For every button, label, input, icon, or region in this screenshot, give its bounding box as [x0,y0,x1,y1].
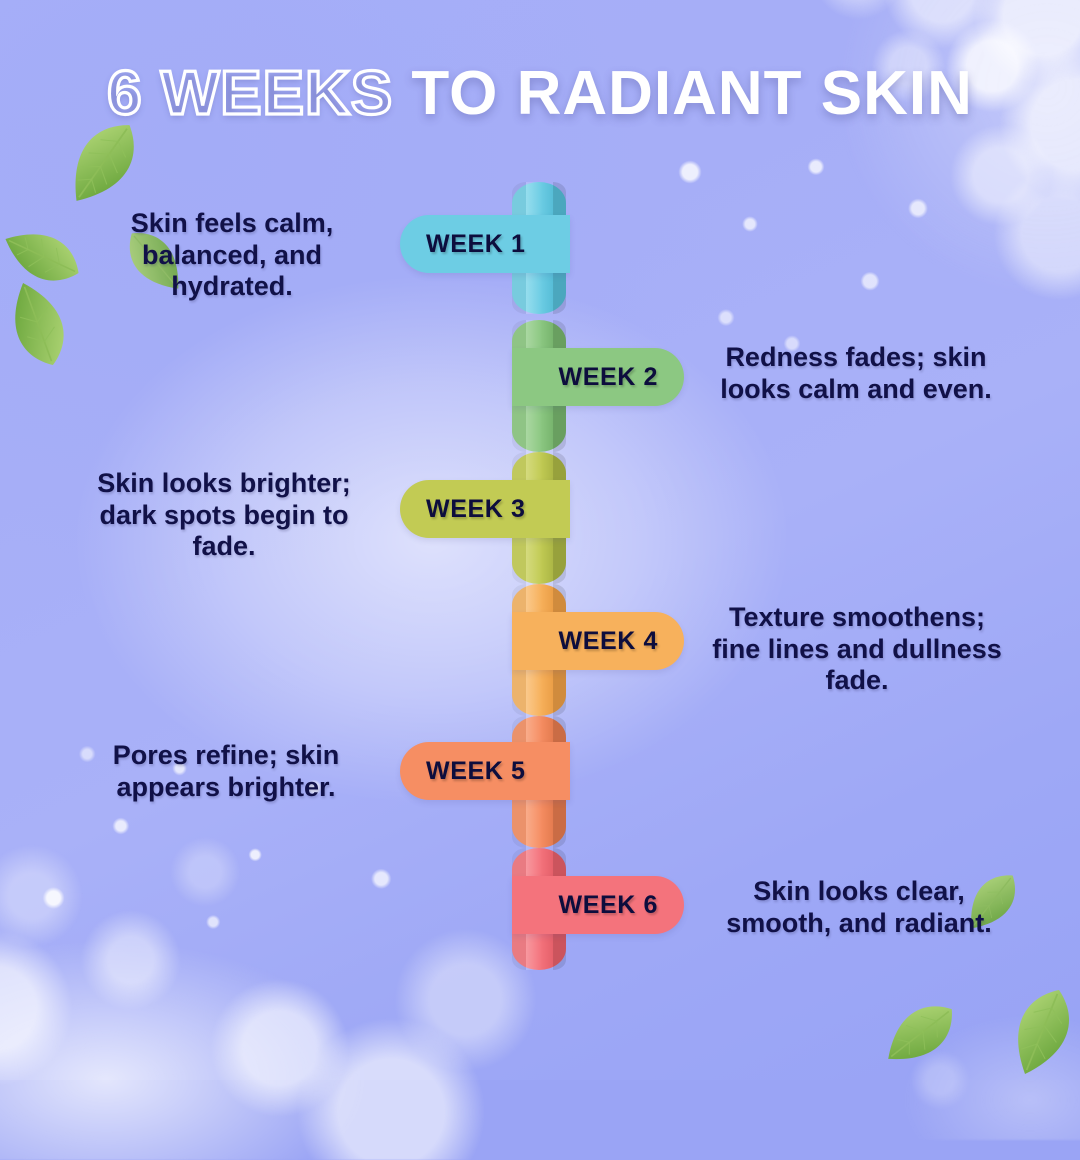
timeline-label-week-4[interactable]: WEEK 4 [512,612,684,670]
timeline: WEEK 1 Skin feels calm, balanced, and hy… [0,0,1080,1080]
timeline-label-week-5[interactable]: WEEK 5 [400,742,570,800]
timeline-label-week-3[interactable]: WEEK 3 [400,480,570,538]
timeline-description-week-3: Skin looks brighter; dark spots begin to… [66,468,382,563]
timeline-label-text: WEEK 5 [426,757,525,786]
timeline-description-week-1: Skin feels calm, balanced, and hydrated. [82,208,382,303]
page-title-solid: TO RADIANT SKIN [411,59,973,128]
page-title-outlined: 6 WEEKS [107,59,393,128]
timeline-description-week-2: Redness fades; skin looks calm and even. [706,342,1006,405]
timeline-label-text: WEEK 4 [559,627,658,656]
timeline-label-week-1[interactable]: WEEK 1 [400,215,570,273]
timeline-label-week-6[interactable]: WEEK 6 [512,876,684,934]
timeline-description-week-6: Skin looks clear, smooth, and radiant. [716,876,1002,939]
timeline-label-text: WEEK 3 [426,495,525,524]
page-title: 6 WEEKS TO RADIANT SKIN [0,58,1080,129]
timeline-label-week-2[interactable]: WEEK 2 [512,348,684,406]
timeline-description-week-5: Pores refine; skin appears brighter. [74,740,378,803]
timeline-label-text: WEEK 2 [559,363,658,392]
timeline-description-week-4: Texture smoothens; fine lines and dullne… [712,602,1002,697]
timeline-label-text: WEEK 1 [426,230,525,259]
timeline-label-text: WEEK 6 [559,891,658,920]
